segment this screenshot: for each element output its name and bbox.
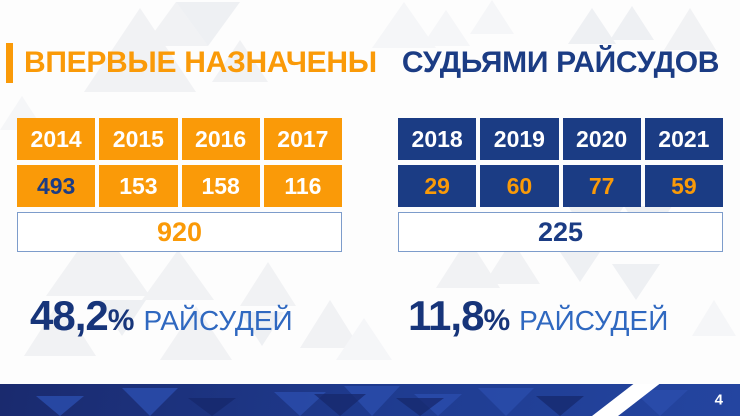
left-value-cell: 158 <box>182 165 260 207</box>
footer-bar: 4 <box>0 384 740 416</box>
title-part-orange: ВПЕРВЫЕ НАЗНАЧЕНЫ <box>24 46 377 79</box>
right-years-row: 2018 2019 2020 2021 <box>398 118 723 160</box>
left-value-cell: 153 <box>99 165 177 207</box>
title-text: ВПЕРВЫЕ НАЗНАЧЕНЫ СУДЬЯМИ РАЙСУДОВ <box>24 48 719 78</box>
footer-decoration <box>0 384 740 416</box>
right-value-cell: 77 <box>563 165 641 207</box>
right-year-cell: 2021 <box>645 118 723 160</box>
left-year-cell: 2017 <box>264 118 342 160</box>
left-year-cell: 2014 <box>17 118 95 160</box>
left-year-cell: 2015 <box>99 118 177 160</box>
right-percent-sign: % <box>483 306 510 336</box>
right-value-cell: 29 <box>398 165 476 207</box>
left-percent-value: 48,2 <box>30 295 108 337</box>
left-panel: 2014 2015 2016 2017 493 153 158 116 920 <box>17 118 342 252</box>
slide-root: ВПЕРВЫЕ НАЗНАЧЕНЫ СУДЬЯМИ РАЙСУДОВ 2014 … <box>0 0 740 416</box>
left-percent-sign: % <box>108 306 135 336</box>
left-value-cell: 116 <box>264 165 342 207</box>
right-value-cell: 60 <box>480 165 558 207</box>
right-year-cell: 2018 <box>398 118 476 160</box>
slide-title: ВПЕРВЫЕ НАЗНАЧЕНЫ СУДЬЯМИ РАЙСУДОВ <box>0 42 719 84</box>
right-percent-value: 11,8 <box>408 295 483 337</box>
left-percent-label: РАЙСУДЕЙ <box>143 307 292 335</box>
right-year-cell: 2020 <box>563 118 641 160</box>
left-percent-summary: 48,2 % РАЙСУДЕЙ <box>30 295 293 347</box>
right-values-row: 29 60 77 59 <box>398 165 723 207</box>
left-values-row: 493 153 158 116 <box>17 165 342 207</box>
title-part-navy: СУДЬЯМИ РАЙСУДОВ <box>402 46 719 79</box>
left-value-cell: 493 <box>17 165 95 207</box>
right-year-cell: 2019 <box>480 118 558 160</box>
right-percent-summary: 11,8 % РАЙСУДЕЙ <box>408 295 668 347</box>
title-accent-bar <box>6 43 13 83</box>
right-value-cell: 59 <box>645 165 723 207</box>
page-number: 4 <box>715 393 723 408</box>
left-year-cell: 2016 <box>182 118 260 160</box>
left-years-row: 2014 2015 2016 2017 <box>17 118 342 160</box>
right-percent-label: РАЙСУДЕЙ <box>519 307 668 335</box>
right-total: 225 <box>398 212 723 252</box>
right-panel: 2018 2019 2020 2021 29 60 77 59 225 <box>398 118 723 252</box>
left-total: 920 <box>17 212 342 252</box>
